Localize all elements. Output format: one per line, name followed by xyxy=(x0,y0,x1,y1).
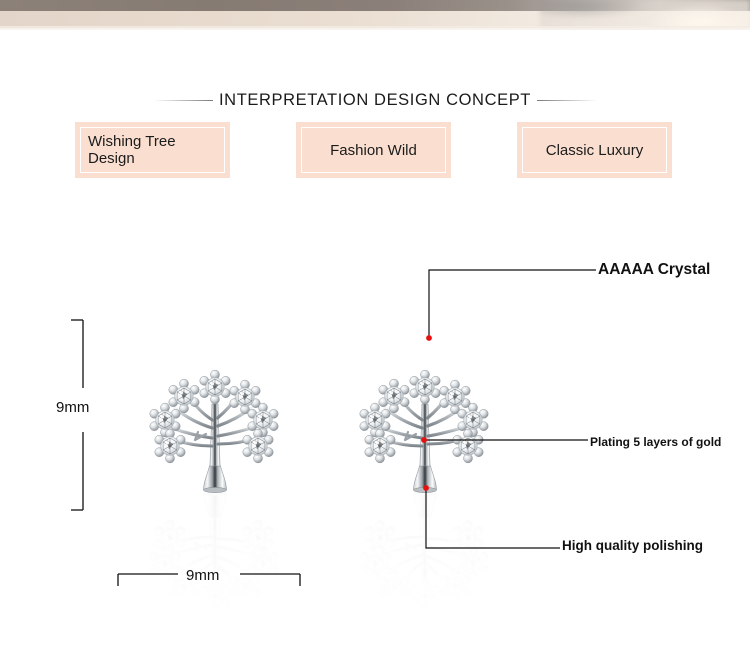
callout-label-polishing: High quality polishing xyxy=(562,539,703,553)
earring-right xyxy=(360,370,488,613)
concept-label: Classic Luxury xyxy=(517,142,672,159)
concept-box-wishing-tree-design: Wishing Tree Design xyxy=(75,122,230,178)
product-detail-image: INTERPRETATION DESIGN CONCEPT Wishing Tr… xyxy=(0,0,750,667)
page-title: INTERPRETATION DESIGN CONCEPT xyxy=(213,91,537,110)
concept-label: Fashion Wild xyxy=(296,142,451,159)
heading-rule-left xyxy=(153,100,213,101)
callout-label-plating: Plating 5 layers of gold xyxy=(590,436,721,448)
product-diagram xyxy=(0,240,750,667)
dimension-label-height: 9mm xyxy=(56,400,89,415)
anchor-dot-crystal xyxy=(426,335,432,341)
concept-label: Wishing Tree Design xyxy=(75,133,230,167)
top-band-fade xyxy=(0,26,750,30)
concept-box-fashion-wild: Fashion Wild xyxy=(296,122,451,178)
top-photo-strip xyxy=(0,0,750,30)
dimension-label-width: 9mm xyxy=(186,568,219,583)
product-diagram-stage xyxy=(0,240,750,667)
heading-rule-right xyxy=(537,100,597,101)
callout-leader-lines xyxy=(424,270,596,548)
callout-label-crystal: AAAAA Crystal xyxy=(598,262,710,278)
concept-box-group: Wishing Tree Design Fashion Wild Classic… xyxy=(0,122,750,178)
anchor-dot-plating xyxy=(421,437,427,443)
concept-box-classic-luxury: Classic Luxury xyxy=(517,122,672,178)
anchor-dot-polishing xyxy=(423,485,429,491)
section-heading: INTERPRETATION DESIGN CONCEPT xyxy=(0,88,750,112)
